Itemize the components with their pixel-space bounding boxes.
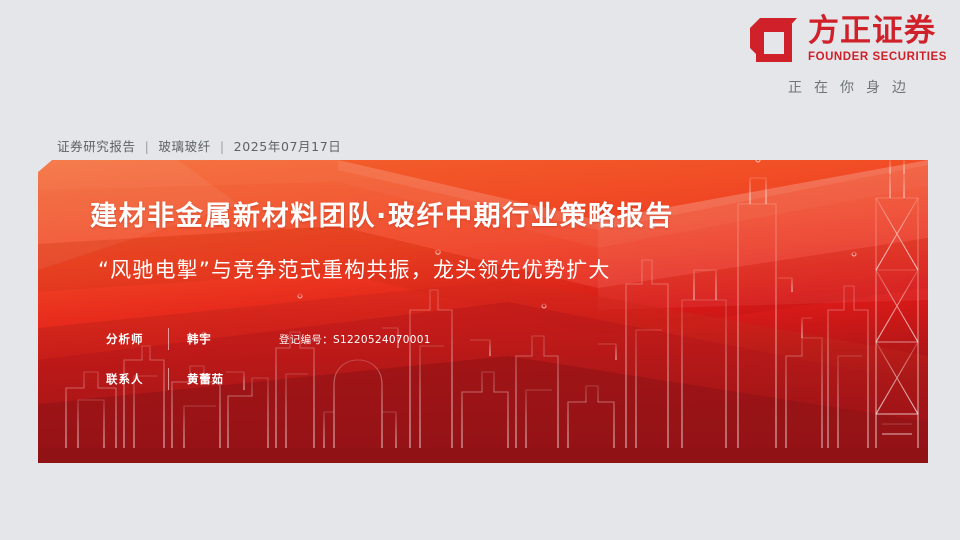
founder-diamond-logo-icon (748, 14, 800, 64)
meta-date: 2025年07月17日 (234, 139, 342, 154)
analyst-name: 韩宇 (187, 331, 279, 347)
analyst-registration: 登记编号：S1220524070001 (279, 332, 431, 347)
analyst-row: 分析师 韩宇 登记编号：S1220524070001 (106, 328, 486, 350)
brand-block: 方正证券 FOUNDER SECURITIES 正在你身边 (748, 14, 946, 110)
report-subtitle: “风驰电掣”与竞争范式重构共振，龙头领先优势扩大 (98, 256, 611, 284)
contact-name: 黄蕾茹 (187, 371, 279, 387)
analyst-label: 分析师 (106, 331, 162, 347)
meta-separator-2: | (211, 139, 234, 154)
meta-separator-1: | (136, 139, 159, 154)
contact-row: 联系人 黄蕾茹 (106, 368, 486, 390)
brand-tagline: 正在你身边 (748, 77, 946, 97)
meta-report-type: 证券研究报告 (57, 139, 136, 154)
brand-wordmark: 方正证券 FOUNDER SECURITIES (808, 14, 947, 64)
brand-name-en: FOUNDER SECURITIES (808, 50, 947, 64)
authors-block: 分析师 韩宇 登记编号：S1220524070001 联系人 黄蕾茹 (106, 328, 486, 408)
cover-page: 方正证券 FOUNDER SECURITIES 正在你身边 证券研究报告|玻璃玻… (0, 0, 960, 540)
contact-label: 联系人 (106, 371, 162, 387)
meta-sector: 玻璃玻纤 (158, 139, 210, 154)
analyst-divider (168, 328, 169, 350)
brand-name-cn: 方正证券 (808, 14, 947, 48)
brand-logo-row: 方正证券 FOUNDER SECURITIES (748, 14, 947, 66)
cover-banner: 建材非金属新材料团队·玻纤中期行业策略报告 “风驰电掣”与竞争范式重构共振，龙头… (38, 160, 928, 463)
report-meta-line: 证券研究报告|玻璃玻纤|2025年07月17日 (57, 136, 341, 155)
banner-content: 建材非金属新材料团队·玻纤中期行业策略报告 “风驰电掣”与竞争范式重构共振，龙头… (38, 160, 928, 463)
contact-divider (168, 368, 169, 390)
report-title: 建材非金属新材料团队·玻纤中期行业策略报告 (90, 200, 674, 234)
